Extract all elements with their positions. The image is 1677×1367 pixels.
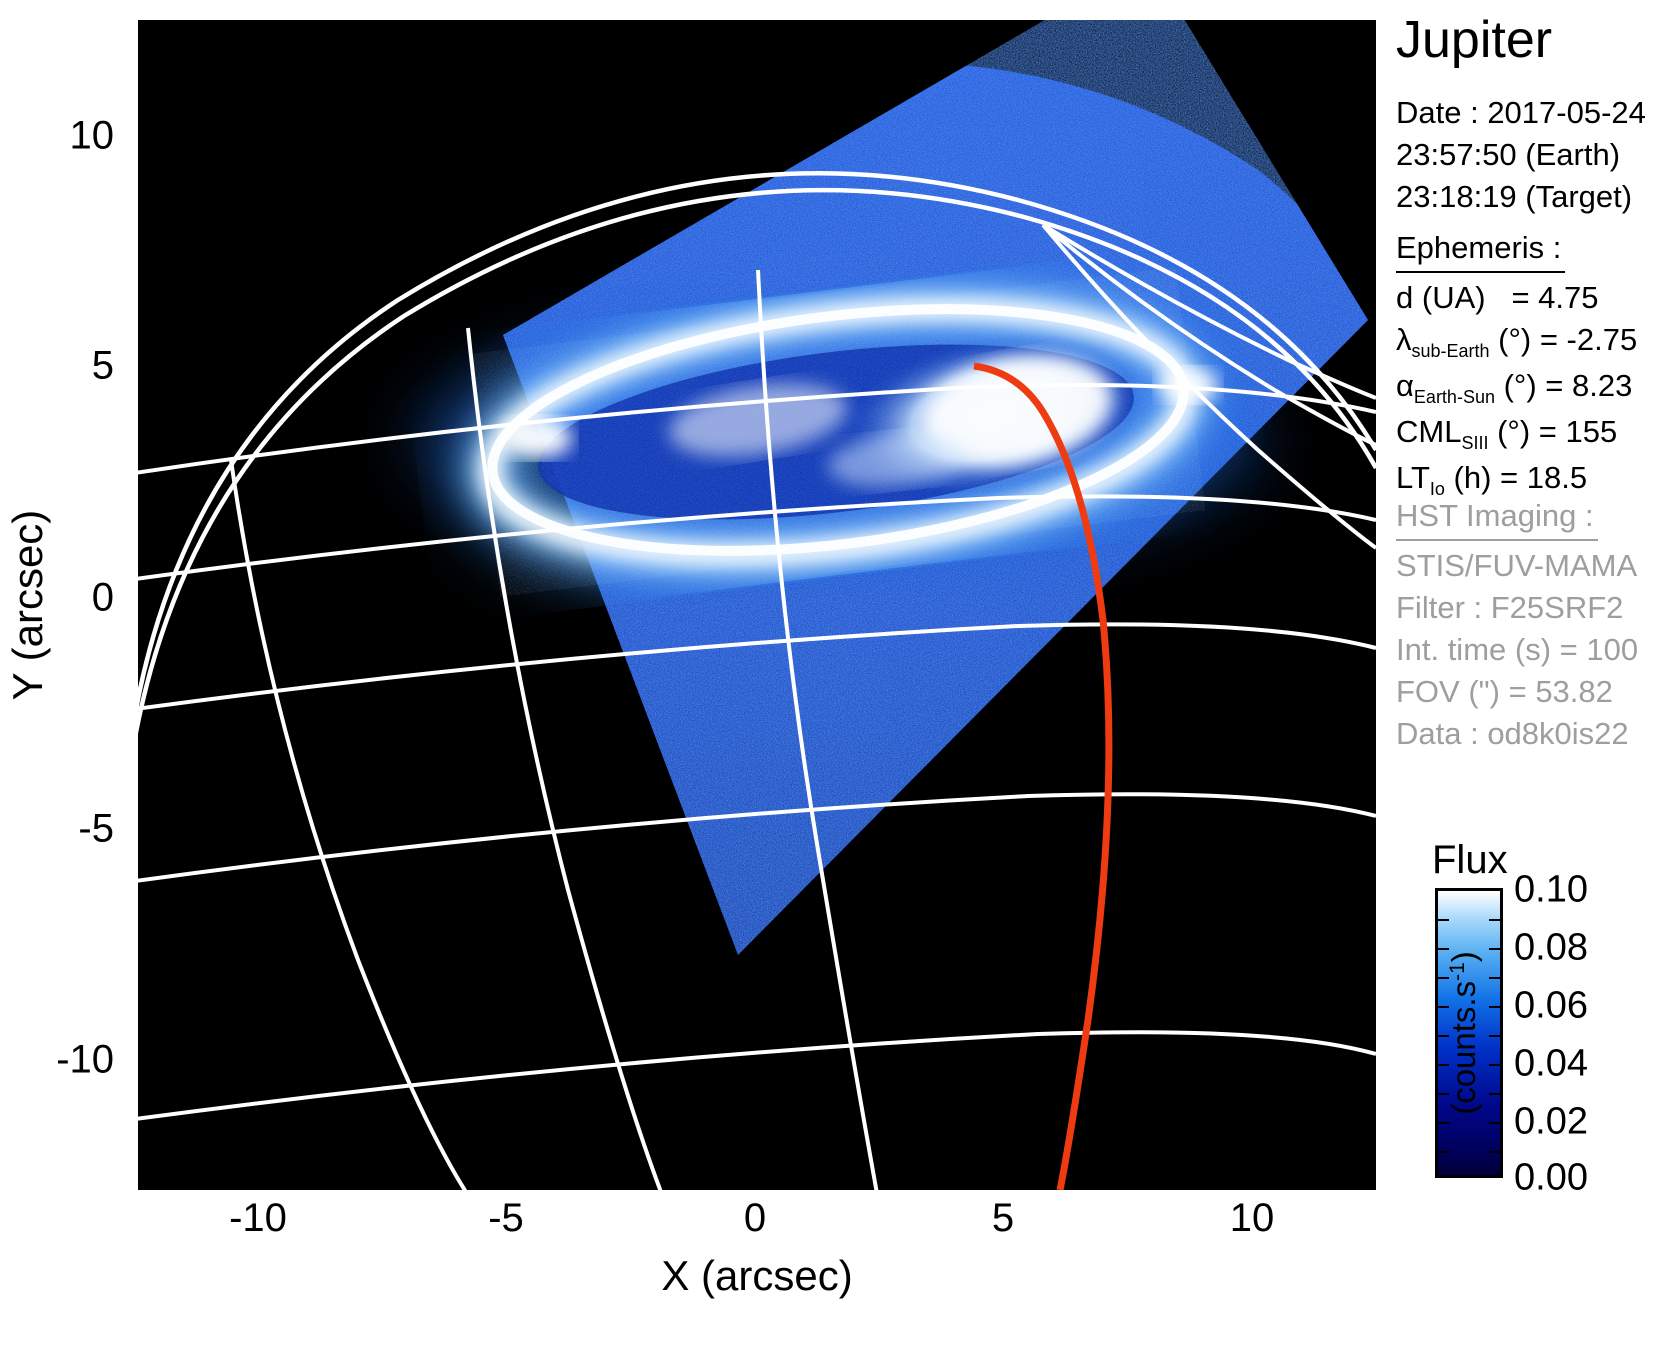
info-panel: Jupiter Date : 2017-05-24 23:57:50 (Eart… bbox=[1396, 0, 1677, 1367]
hst-int-time: Int. time (s) = 100 bbox=[1396, 629, 1638, 671]
colorbar-title: Flux bbox=[1432, 838, 1508, 883]
x-tick-0: 0 bbox=[744, 1196, 766, 1241]
x-axis-title: X (arcsec) bbox=[661, 1252, 852, 1300]
colorbar-tick-008: 0.08 bbox=[1514, 927, 1588, 970]
ephemeris-value-cml: = 155 bbox=[1539, 414, 1617, 449]
ephemeris-row-alpha: αEarth-Sun (°) = 8.23 bbox=[1396, 365, 1637, 411]
y-tick-5: 5 bbox=[92, 344, 114, 389]
colorbar: Flux 0.10 0.08 0.06 0.04 0.02 0.00 bbox=[1396, 838, 1677, 1168]
hst-data-id: Data : od8k0is22 bbox=[1396, 713, 1638, 755]
ephemeris-subscript-alpha: Earth-Sun bbox=[1414, 387, 1495, 407]
ephemeris-symbol-lambda: λ bbox=[1396, 322, 1412, 357]
hst-imaging-block: HST Imaging : STIS/FUV-MAMA Filter : F25… bbox=[1396, 496, 1638, 755]
x-tick-5: 5 bbox=[992, 1196, 1014, 1241]
target-title: Jupiter bbox=[1396, 14, 1552, 66]
ephemeris-symbol-lt: LT bbox=[1396, 460, 1430, 495]
y-tick-10: 10 bbox=[70, 114, 115, 159]
ephemeris-row-distance: d (UA) = 4.75 bbox=[1396, 277, 1637, 319]
ephemeris-symbol-cml: CML bbox=[1396, 414, 1461, 449]
ephemeris-value-d: = 4.75 bbox=[1511, 280, 1598, 315]
ephemeris-subscript-lambda: sub-Earth bbox=[1412, 341, 1490, 361]
hst-filter: Filter : F25SRF2 bbox=[1396, 587, 1638, 629]
ephemeris-subscript-cml: SIII bbox=[1461, 433, 1488, 453]
ephemeris-unit-d: (UA) bbox=[1422, 280, 1486, 315]
time-target-line: 23:18:19 (Target) bbox=[1396, 176, 1646, 218]
colorbar-tick-006: 0.06 bbox=[1514, 985, 1588, 1028]
colorbar-tick-002: 0.02 bbox=[1514, 1101, 1588, 1144]
ephemeris-block: Ephemeris : d (UA) = 4.75 λsub-Earth (°)… bbox=[1396, 228, 1637, 503]
y-tick-neg5: -5 bbox=[78, 807, 114, 852]
ephemeris-heading: Ephemeris : bbox=[1396, 228, 1565, 273]
image-plot-area bbox=[138, 20, 1376, 1190]
y-tick-0: 0 bbox=[92, 576, 114, 621]
ephemeris-unit-lambda: (°) bbox=[1498, 322, 1531, 357]
ephemeris-symbol-d: d bbox=[1396, 280, 1413, 315]
x-tick-neg10: -10 bbox=[229, 1196, 287, 1241]
ephemeris-unit-alpha: (°) bbox=[1504, 368, 1537, 403]
hst-instrument: STIS/FUV-MAMA bbox=[1396, 545, 1638, 587]
time-earth-line: 23:57:50 (Earth) bbox=[1396, 134, 1646, 176]
x-tick-neg5: -5 bbox=[488, 1196, 524, 1241]
ephemeris-row-lambda: λsub-Earth (°) = -2.75 bbox=[1396, 319, 1637, 365]
date-line: Date : 2017-05-24 bbox=[1396, 92, 1646, 134]
ephemeris-value-lt: = 18.5 bbox=[1500, 460, 1587, 495]
x-tick-10: 10 bbox=[1230, 1196, 1275, 1241]
colorbar-tick-010: 0.10 bbox=[1514, 869, 1588, 912]
y-axis-title: Y (arcsec) bbox=[4, 455, 52, 755]
ephemeris-symbol-alpha: α bbox=[1396, 368, 1414, 403]
observation-date-block: Date : 2017-05-24 23:57:50 (Earth) 23:18… bbox=[1396, 92, 1646, 218]
hst-fov: FOV (") = 53.82 bbox=[1396, 671, 1638, 713]
colorbar-axis-title: (counts.s-1) bbox=[1445, 903, 1483, 1163]
ephemeris-unit-lt: (h) bbox=[1454, 460, 1492, 495]
colorbar-units-tail: ) bbox=[1445, 951, 1482, 962]
y-tick-neg10: -10 bbox=[56, 1038, 114, 1083]
colorbar-tick-000: 0.00 bbox=[1514, 1157, 1588, 1200]
ephemeris-value-alpha: = 8.23 bbox=[1545, 368, 1632, 403]
colorbar-tick-004: 0.04 bbox=[1514, 1043, 1588, 1086]
ephemeris-row-cml: CMLSIII (°) = 155 bbox=[1396, 411, 1637, 457]
ephemeris-value-lambda: = -2.75 bbox=[1540, 322, 1637, 357]
hst-heading: HST Imaging : bbox=[1396, 496, 1598, 541]
colorbar-units-main: (counts.s bbox=[1445, 981, 1482, 1115]
colorbar-units-exponent: -1 bbox=[1446, 962, 1469, 981]
ephemeris-unit-cml: (°) bbox=[1497, 414, 1530, 449]
